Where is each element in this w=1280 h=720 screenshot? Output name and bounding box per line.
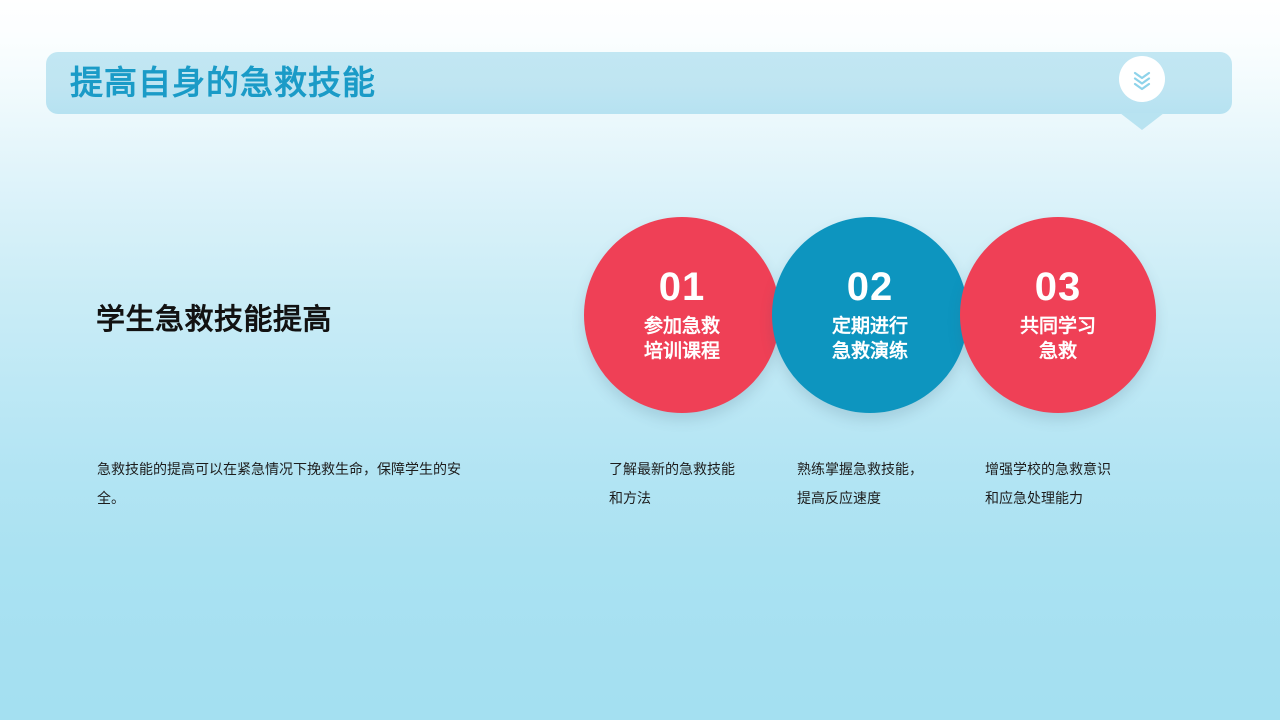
step-number: 02 (847, 266, 894, 308)
page-title: 提高自身的急救技能 (70, 63, 376, 103)
step-caption-02: 熟练掌握急救技能， 提高反应速度 (797, 455, 972, 513)
step-number: 01 (659, 266, 706, 308)
step-circle-02[interactable]: 02 定期进行 急救演练 (772, 217, 968, 413)
step-label: 参加急救 培训课程 (644, 314, 720, 364)
step-caption-03: 增强学校的急救意识 和应急处理能力 (985, 455, 1160, 513)
step-circle-03[interactable]: 03 共同学习 急救 (960, 217, 1156, 413)
double-chevron-down-icon[interactable] (1119, 56, 1165, 102)
section-heading: 学生急救技能提高 (96, 296, 332, 338)
step-label: 共同学习 急救 (1020, 314, 1096, 364)
step-caption-01: 了解最新的急救技能 和方法 (609, 455, 784, 513)
step-circle-01[interactable]: 01 参加急救 培训课程 (584, 217, 780, 413)
slide-canvas: 提高自身的急救技能 学生急救技能提高 急救技能的提高可以在紧急情况下挽救生命，保… (0, 0, 1280, 720)
header-banner-pointer (1120, 113, 1164, 130)
section-paragraph: 急救技能的提高可以在紧急情况下挽救生命，保障学生的安全。 (97, 455, 467, 513)
step-number: 03 (1035, 266, 1082, 308)
step-label: 定期进行 急救演练 (832, 314, 908, 364)
